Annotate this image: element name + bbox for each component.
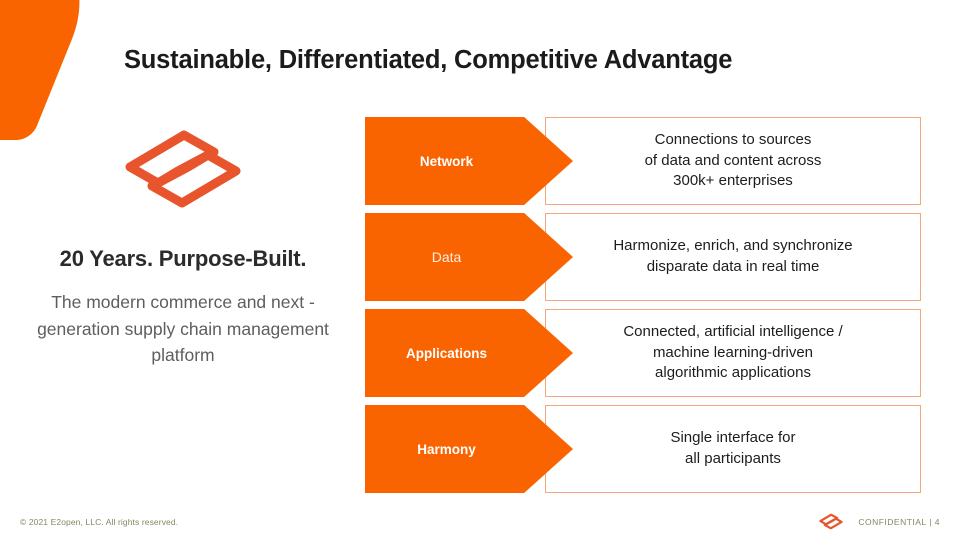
row-description-text: Single interface for all participants: [660, 428, 805, 469]
process-rows-list: Connections to sources of data and conte…: [365, 117, 921, 493]
row-chevron-applications: Applications: [365, 309, 573, 397]
process-row: Connections to sources of data and conte…: [365, 117, 921, 205]
row-description-text: Harmonize, enrich, and synchronize dispa…: [603, 236, 862, 277]
row-chevron-label: Network: [365, 154, 528, 169]
page-title: Sustainable, Differentiated, Competitive…: [124, 46, 732, 75]
corner-accent-shape: [0, 0, 112, 140]
footer-copyright: © 2021 E2open, LLC. All rights reserved.: [20, 517, 178, 527]
footer-confidential-label: CONFIDENTIAL | 4: [858, 517, 940, 527]
row-description-text: Connected, artificial intelligence / mac…: [613, 322, 852, 384]
row-description-box: Connected, artificial intelligence / mac…: [545, 309, 921, 397]
row-description-box: Connections to sources of data and conte…: [545, 117, 921, 205]
e2open-logo-icon: [118, 130, 248, 208]
row-chevron-label: Harmony: [365, 442, 528, 457]
process-row: Single interface for all participants Ha…: [365, 405, 921, 493]
row-chevron-label: Applications: [365, 346, 528, 361]
left-panel: 20 Years. Purpose-Built. The modern comm…: [18, 130, 348, 369]
row-chevron-network: Network: [365, 117, 573, 205]
tagline-body: The modern commerce and next -generation…: [18, 289, 348, 369]
tagline-heading: 20 Years. Purpose-Built.: [18, 246, 348, 272]
row-description-text: Connections to sources of data and conte…: [635, 130, 832, 192]
row-description-box: Single interface for all participants: [545, 405, 921, 493]
e2open-logo-icon: [818, 513, 844, 530]
process-row: Harmonize, enrich, and synchronize dispa…: [365, 213, 921, 301]
row-chevron-label: Data: [365, 249, 528, 265]
footer-right-group: CONFIDENTIAL | 4: [818, 513, 940, 530]
row-chevron-harmony: Harmony: [365, 405, 573, 493]
row-chevron-data: Data: [365, 213, 573, 301]
process-row: Connected, artificial intelligence / mac…: [365, 309, 921, 397]
row-description-box: Harmonize, enrich, and synchronize dispa…: [545, 213, 921, 301]
